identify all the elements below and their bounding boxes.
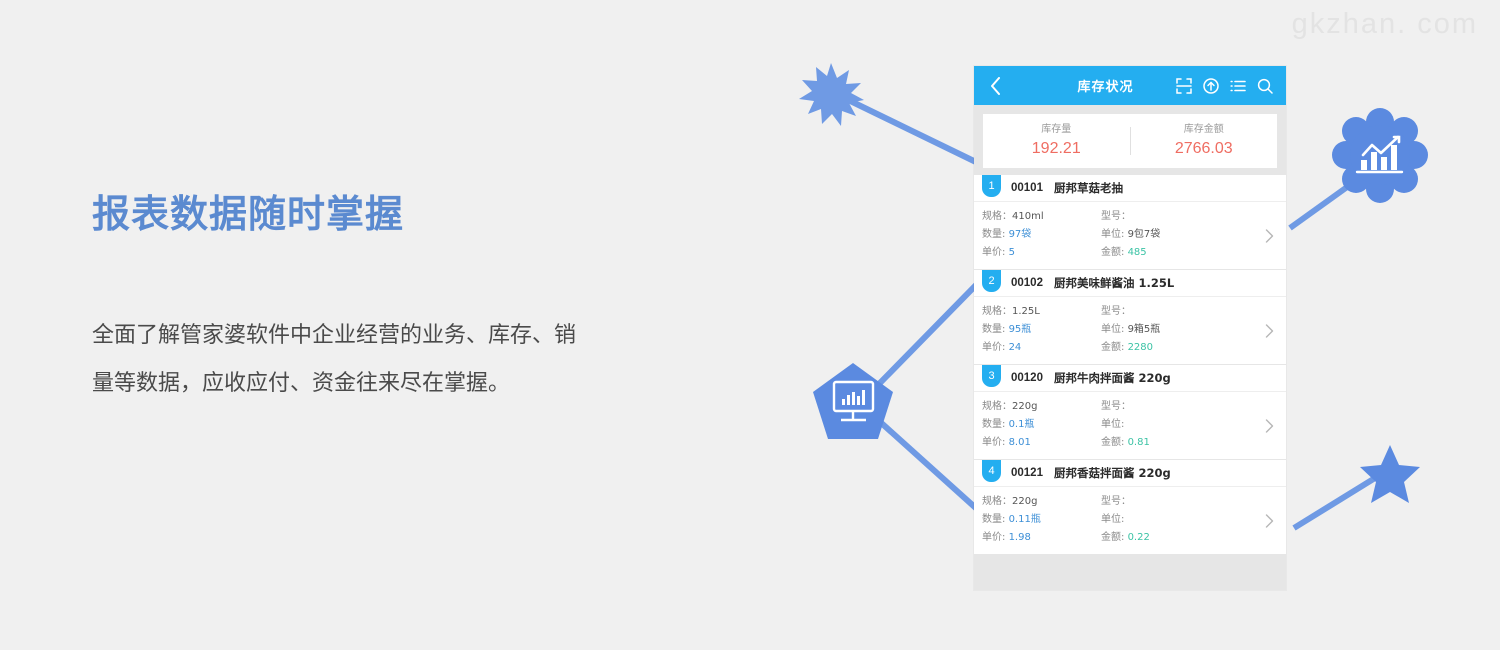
- item-name: 厨邦香菇拌面酱 220g: [1054, 465, 1171, 481]
- list-bottom-spacer: [974, 555, 1286, 590]
- rank-badge: 4: [982, 460, 1001, 482]
- amount-label: 金额:: [1101, 437, 1124, 448]
- summary-section: 库存量 192.21 库存金额 2766.03: [974, 105, 1286, 168]
- amount-value: 485: [1128, 247, 1147, 258]
- amount-label: 金额:: [1101, 532, 1124, 543]
- list-item-header: 1 00101 厨邦草菇老抽: [974, 175, 1286, 202]
- connector-line-mid-lower: [878, 420, 978, 510]
- price-value: 5: [1009, 247, 1015, 258]
- qty-value: 97袋: [1009, 229, 1032, 240]
- scallop-chart-badge: [1332, 108, 1428, 203]
- list-item-details: 规格：220g 数量: 0.1瓶 单价: 8.01 型号： 单位: 金额: 0.…: [974, 392, 1286, 459]
- rank-badge: 1: [982, 175, 1001, 197]
- unit-label: 单位:: [1101, 514, 1124, 525]
- spec-label: 规格：: [982, 306, 1012, 317]
- model-label: 型号：: [1101, 401, 1131, 412]
- list-item-details: 规格：1.25L 数量: 95瓶 单价: 24 型号： 单位: 9箱5瓶 金额:…: [974, 297, 1286, 364]
- qty-label: 数量:: [982, 419, 1005, 430]
- amount-value: 2280: [1128, 342, 1153, 353]
- spec-label: 规格：: [982, 401, 1012, 412]
- monitor-bar-chart-icon: [834, 382, 873, 420]
- starburst-badge: [799, 63, 864, 126]
- unit-label: 单位:: [1101, 419, 1124, 430]
- site-watermark: gkzhan. com: [1292, 8, 1478, 41]
- price-label: 单价:: [982, 247, 1005, 258]
- connector-line-top: [838, 95, 978, 163]
- marketing-description: 全面了解管家婆软件中企业经营的业务、库存、销量等数据，应收应付、资金往来尽在掌握…: [92, 312, 592, 408]
- list-item-header: 2 00102 厨邦美味鲜酱油 1.25L: [974, 270, 1286, 297]
- list-item[interactable]: 4 00121 厨邦香菇拌面酱 220g 规格：220g 数量: 0.11瓶 单…: [974, 460, 1286, 554]
- summary-value: 192.21: [983, 138, 1130, 160]
- app-title: 库存状况: [1006, 76, 1175, 95]
- slide-canvas: gkzhan. com 报表数据随时掌握 全面了解管家婆软件中企业经营的业务、库…: [0, 0, 1500, 650]
- price-value: 24: [1009, 342, 1022, 353]
- connector-line-mid-upper: [878, 283, 978, 385]
- rank-badge: 3: [982, 365, 1001, 387]
- summary-label: 库存金额: [1131, 123, 1278, 137]
- item-name: 厨邦牛肉拌面酱 220g: [1054, 370, 1171, 386]
- price-label: 单价:: [982, 437, 1005, 448]
- list-item[interactable]: 2 00102 厨邦美味鲜酱油 1.25L 规格：1.25L 数量: 95瓶 单…: [974, 270, 1286, 364]
- rank-badge: 2: [982, 270, 1001, 292]
- unit-value: 9箱5瓶: [1128, 324, 1161, 335]
- list-item-details: 规格：220g 数量: 0.11瓶 单价: 1.98 型号： 单位: 金额: 0…: [974, 487, 1286, 554]
- qty-label: 数量:: [982, 514, 1005, 525]
- item-code: 00102: [1011, 277, 1043, 289]
- list-item-header: 3 00120 厨邦牛肉拌面酱 220g: [974, 365, 1286, 392]
- pentagon-monitor-badge: [813, 363, 893, 439]
- amount-value: 0.81: [1128, 437, 1150, 448]
- item-code: 00121: [1011, 467, 1043, 479]
- chevron-right-icon[interactable]: [1262, 229, 1276, 243]
- chevron-right-icon[interactable]: [1262, 419, 1276, 433]
- app-screen: 库存状况: [974, 66, 1286, 590]
- price-label: 单价:: [982, 532, 1005, 543]
- amount-value: 0.22: [1128, 532, 1150, 543]
- qty-value: 95瓶: [1009, 324, 1032, 335]
- qty-label: 数量:: [982, 324, 1005, 335]
- connector-line-right-upper: [1290, 172, 1368, 228]
- spec-value: 410ml: [1012, 211, 1044, 222]
- header-icon-group: [1175, 77, 1276, 95]
- star-badge: [1360, 445, 1420, 503]
- summary-label: 库存量: [983, 123, 1130, 137]
- app-header: 库存状况: [974, 66, 1286, 105]
- unit-label: 单位:: [1101, 229, 1124, 240]
- spec-value: 220g: [1012, 496, 1037, 507]
- spec-label: 规格：: [982, 496, 1012, 507]
- summary-card: 库存量 192.21 库存金额 2766.03: [983, 114, 1277, 168]
- connector-line-right-lower: [1294, 470, 1388, 528]
- summary-cell-stock-amount: 库存金额 2766.03: [1131, 123, 1278, 160]
- qty-label: 数量:: [982, 229, 1005, 240]
- amount-label: 金额:: [1101, 247, 1124, 258]
- inventory-list: 1 00101 厨邦草菇老抽 规格：410ml 数量: 97袋 单价: 5 型号…: [974, 168, 1286, 590]
- list-item[interactable]: 1 00101 厨邦草菇老抽 规格：410ml 数量: 97袋 单价: 5 型号…: [974, 175, 1286, 269]
- item-name: 厨邦草菇老抽: [1054, 180, 1123, 196]
- item-code: 00120: [1011, 372, 1043, 384]
- scan-qr-icon[interactable]: [1175, 77, 1193, 95]
- spec-value: 1.25L: [1012, 306, 1040, 317]
- price-value: 1.98: [1009, 532, 1031, 543]
- amount-label: 金额:: [1101, 342, 1124, 353]
- item-name: 厨邦美味鲜酱油 1.25L: [1054, 275, 1174, 291]
- list-item-header: 4 00121 厨邦香菇拌面酱 220g: [974, 460, 1286, 487]
- spec-value: 220g: [1012, 401, 1037, 412]
- price-value: 8.01: [1009, 437, 1031, 448]
- search-icon[interactable]: [1256, 77, 1274, 95]
- model-label: 型号：: [1101, 496, 1131, 507]
- summary-value: 2766.03: [1131, 138, 1278, 160]
- page-title: 报表数据随时掌握: [92, 192, 612, 238]
- chevron-right-icon[interactable]: [1262, 514, 1276, 528]
- marketing-copy: 报表数据随时掌握 全面了解管家婆软件中企业经营的业务、库存、销量等数据，应收应付…: [92, 192, 612, 408]
- list-item-details: 规格：410ml 数量: 97袋 单价: 5 型号： 单位: 9包7袋 金额: …: [974, 202, 1286, 269]
- chevron-right-icon[interactable]: [1262, 324, 1276, 338]
- upload-circle-icon[interactable]: [1202, 77, 1220, 95]
- unit-value: 9包7袋: [1128, 229, 1161, 240]
- summary-cell-stock-qty: 库存量 192.21: [983, 123, 1130, 160]
- item-code: 00101: [1011, 182, 1043, 194]
- spec-label: 规格：: [982, 211, 1012, 222]
- list-menu-icon[interactable]: [1229, 77, 1247, 95]
- back-chevron-icon[interactable]: [984, 75, 1006, 97]
- price-label: 单价:: [982, 342, 1005, 353]
- unit-label: 单位:: [1101, 324, 1124, 335]
- bar-chart-trend-icon: [1357, 137, 1402, 172]
- qty-value: 0.11瓶: [1009, 514, 1041, 525]
- list-item[interactable]: 3 00120 厨邦牛肉拌面酱 220g 规格：220g 数量: 0.1瓶 单价…: [974, 365, 1286, 459]
- model-label: 型号：: [1101, 306, 1131, 317]
- model-label: 型号：: [1101, 211, 1131, 222]
- qty-value: 0.1瓶: [1009, 419, 1035, 430]
